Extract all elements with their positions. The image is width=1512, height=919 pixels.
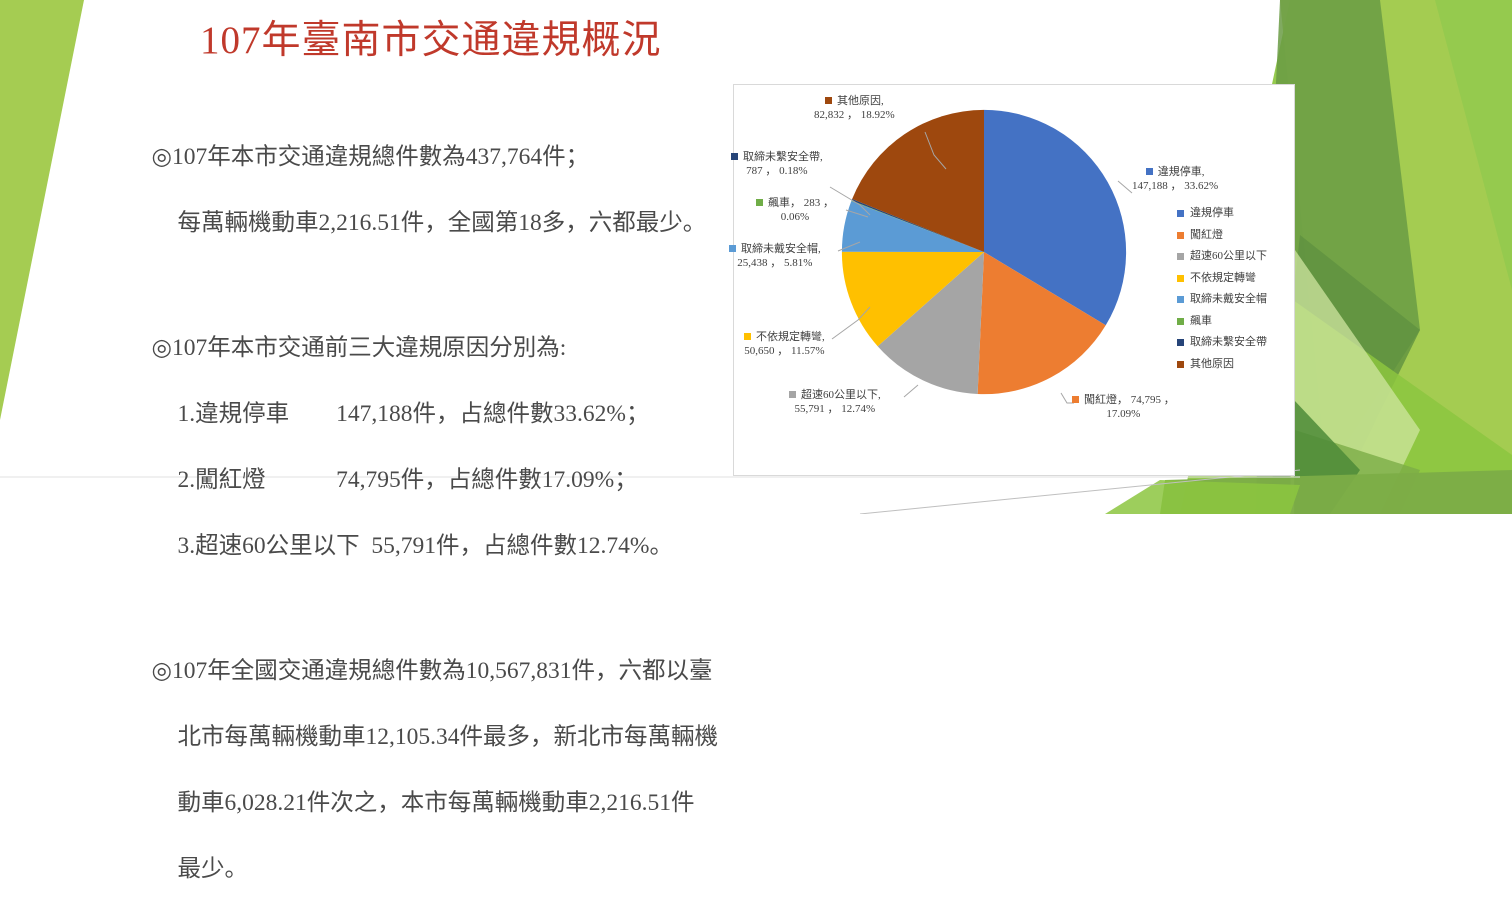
legend-color-swatch-icon (1177, 339, 1184, 346)
legend-color-swatch-icon (1177, 275, 1184, 282)
callout-no-seatbelt-line-2: 787 ， 0.18% (731, 164, 823, 178)
leader-nohelmet (838, 242, 860, 251)
legend-item-2[interactable]: 闖紅燈 (1177, 225, 1267, 247)
callout-improper-turn: 不依規定轉彎, 50,650 ， 11.57% (744, 330, 825, 358)
callout-speeding-line-1: 超速60公里以下, (789, 388, 881, 402)
callout-racing-line-2: 0.06% (756, 210, 834, 224)
leader-other (925, 132, 946, 169)
leader-speed (904, 385, 918, 397)
legend-item-label: 超速60公里以下 (1190, 246, 1267, 268)
legend-swatch-racing-icon (756, 199, 763, 206)
callout-red-light: 闖紅燈， 74,795 ， 17.09% (1072, 393, 1175, 421)
paragraph-3: ◎107年全國交通違規總件數為10,567,831件，六都以臺 北市每萬輛機動車… (128, 622, 748, 919)
legend-color-swatch-icon (1177, 318, 1184, 325)
legend-swatch-no-seatbelt-icon (731, 153, 738, 160)
legend-color-swatch-icon (1177, 296, 1184, 303)
legend-item-1[interactable]: 違規停車 (1177, 203, 1267, 225)
callout-no-helmet-line-2: 25,438 ， 5.81% (729, 256, 821, 270)
paragraph-1-line-1: ◎107年本市交通違規總件數為437,764件； (152, 144, 590, 170)
callout-speeding-line-2: 55,791 ， 12.74% (789, 402, 881, 416)
legend-swatch-other-icon (825, 97, 832, 104)
callout-speeding: 超速60公里以下, 55,791 ， 12.74% (789, 388, 881, 416)
legend-swatch-illegal-parking-icon (1146, 168, 1153, 175)
legend-item-label: 其他原因 (1190, 354, 1234, 376)
legend-item-label: 取締未繫安全帶 (1190, 332, 1267, 354)
callout-racing: 飆車， 283 ， 0.06% (756, 196, 834, 224)
callout-other-line-2: 82,832 ， 18.92% (814, 108, 895, 122)
legend-item-label: 違規停車 (1190, 203, 1234, 225)
legend-color-swatch-icon (1177, 210, 1184, 217)
legend-color-swatch-icon (1177, 253, 1184, 260)
legend-item-label: 取締未戴安全帽 (1190, 289, 1267, 311)
callout-no-helmet-line-1: 取締未戴安全帽, (729, 242, 821, 256)
paragraph-3-line-4: 最少。 (152, 856, 249, 882)
legend-color-swatch-icon (1177, 361, 1184, 368)
callout-other-reasons: 其他原因, 82,832 ， 18.92% (814, 94, 895, 122)
legend-swatch-improper-turn-icon (744, 333, 751, 340)
paragraph-3-line-1: ◎107年全國交通違規總件數為10,567,831件，六都以臺 (152, 658, 713, 684)
legend-item-6[interactable]: 飆車 (1177, 311, 1267, 333)
legend-item-8[interactable]: 其他原因 (1177, 354, 1267, 376)
legend-item-3[interactable]: 超速60公里以下 (1177, 246, 1267, 268)
leader-park (1118, 181, 1132, 193)
callout-improper-turn-line-1: 不依規定轉彎, (744, 330, 825, 344)
legend-item-label: 闖紅燈 (1190, 225, 1223, 247)
callout-red-light-line-2: 17.09% (1072, 407, 1175, 421)
legend-swatch-speeding-icon (789, 391, 796, 398)
legend-color-swatch-icon (1177, 232, 1184, 239)
callout-no-seatbelt: 取締未繫安全帶, 787 ， 0.18% (731, 150, 823, 178)
legend-item-label: 不依規定轉彎 (1190, 268, 1256, 290)
callout-illegal-parking-line-2: 147,188 ， 33.62% (1132, 179, 1218, 193)
callout-illegal-parking-line-1: 違規停車, (1132, 165, 1218, 179)
legend-swatch-no-helmet-icon (729, 245, 736, 252)
spacer-2 (128, 608, 748, 622)
callout-red-light-line-1: 闖紅燈， 74,795 ， (1072, 393, 1175, 407)
callout-other-line-1: 其他原因, (814, 94, 895, 108)
violation-rank-2: 2.闖紅燈 74,795件，占總件數17.09%； (152, 467, 638, 493)
legend-item-label: 飆車 (1190, 311, 1212, 333)
legend-swatch-red-light-icon (1072, 396, 1079, 403)
violation-rank-3: 3.超速60公里以下 55,791件，占總件數12.74%。 (152, 533, 673, 559)
pie-chart-plot-area: 其他原因, 82,832 ， 18.92% 取締未繫安全帶, 787 ， 0.1… (734, 85, 1296, 477)
paragraph-3-line-2: 北市每萬輛機動車12,105.34件最多，新北市每萬輛機 (152, 724, 719, 750)
leader-racing (846, 210, 868, 217)
violation-rank-1: 1.違規停車 147,188件，占總件數33.62%； (152, 401, 650, 427)
callout-improper-turn-line-2: 50,650 ， 11.57% (744, 344, 825, 358)
leader-turn (832, 307, 870, 339)
paragraph-3-line-3: 動車6,028.21件次之，本市每萬輛機動車2,216.51件 (152, 790, 695, 816)
paragraph-2: ◎107年本市交通前三大違規原因分別為: 1.違規停車 147,188件，占總件… (128, 299, 748, 596)
callout-no-helmet: 取締未戴安全帽, 25,438 ， 5.81% (729, 242, 821, 270)
spacer-1 (128, 285, 748, 299)
paragraph-2-line-1: ◎107年本市交通前三大違規原因分別為: (152, 335, 567, 361)
callout-illegal-parking: 違規停車, 147,188 ， 33.62% (1132, 165, 1218, 193)
paragraph-1: ◎107年本市交通違規總件數為437,764件； 每萬輛機動車2,216.51件… (128, 108, 748, 273)
legend-item-4[interactable]: 不依規定轉彎 (1177, 268, 1267, 290)
chart-legend[interactable]: 違規停車闖紅燈超速60公里以下不依規定轉彎取締未戴安全帽飆車取締未繫安全帶其他原… (1177, 203, 1267, 375)
pie-chart-container[interactable]: 其他原因, 82,832 ， 18.92% 取締未繫安全帶, 787 ， 0.1… (733, 84, 1295, 476)
callout-no-seatbelt-line-1: 取締未繫安全帶, (731, 150, 823, 164)
legend-item-7[interactable]: 取締未繫安全帶 (1177, 332, 1267, 354)
callout-racing-line-1: 飆車， 283 ， (756, 196, 834, 210)
page-title: 107年臺南市交通違規概況 (200, 18, 662, 65)
paragraph-1-line-2: 每萬輛機動車2,216.51件，全國第18多，六都最少。 (152, 210, 707, 236)
legend-item-5[interactable]: 取締未戴安全帽 (1177, 289, 1267, 311)
